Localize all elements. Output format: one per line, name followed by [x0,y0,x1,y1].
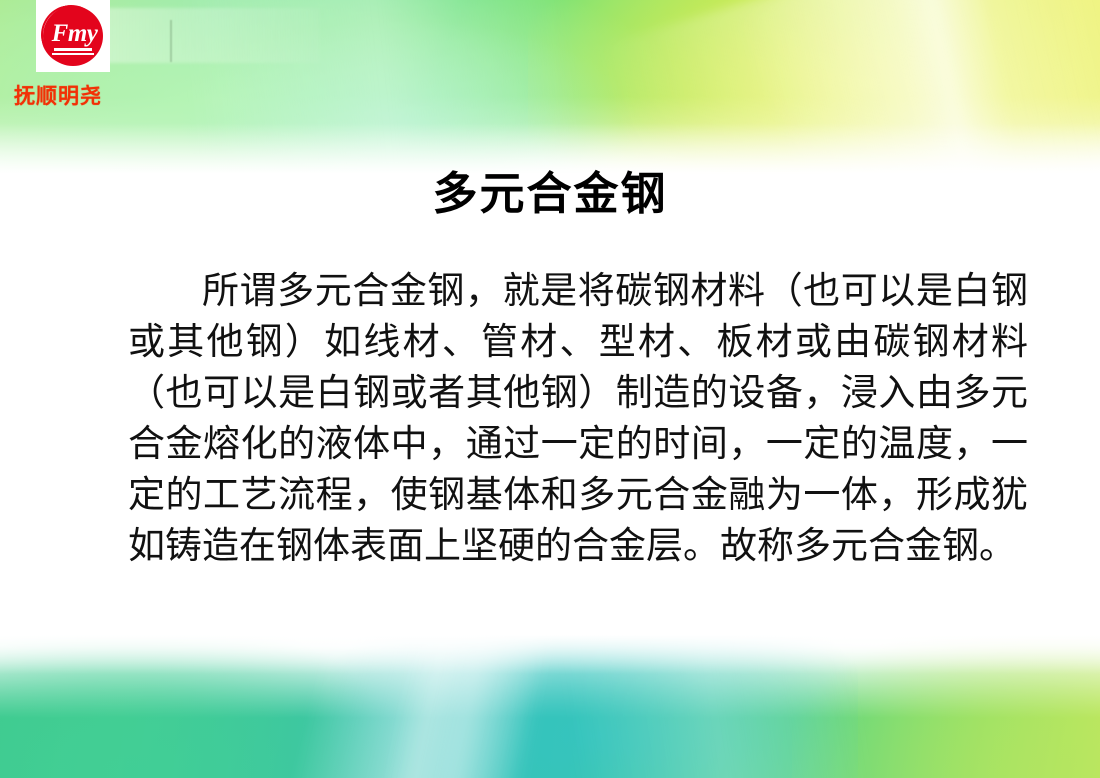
top-banner-tick-mark [170,20,172,62]
slide-body-text: 所谓多元合金钢，就是将碳钢材料（也可以是白钢或其他钢）如线材、管材、型材、板材或… [128,265,1028,571]
presentation-slide: Fmy 抚顺明尧 多元合金钢 所谓多元合金钢，就是将碳钢材料（也可以是白钢或其他… [0,0,1100,778]
company-logo: Fmy [36,0,110,72]
slide-title: 多元合金钢 [0,166,1100,222]
bottom-banner-white-fade [0,628,1100,674]
top-banner-pale-plate [105,8,320,63]
company-name-label: 抚顺明尧 [14,80,134,110]
top-decorative-banner [0,0,1100,185]
logo-underline-thick [54,48,92,51]
logo-underline-thin [52,53,94,55]
bottom-decorative-banner [0,628,1100,778]
logo-mark: Fmy [41,5,105,67]
logo-monogram: Fmy [41,5,105,67]
